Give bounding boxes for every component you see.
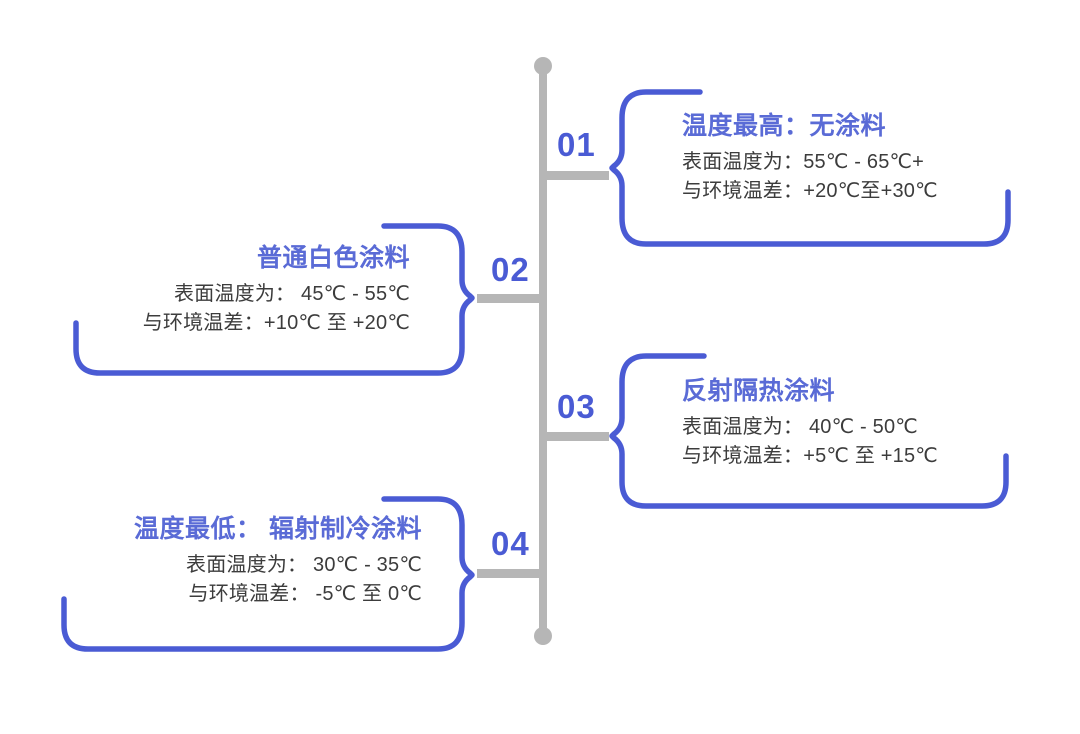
- timeline-spine: [539, 64, 547, 636]
- callout-title-04: 温度最低： 辐射制冷涂料: [134, 515, 422, 544]
- timeline-tick-04: [477, 569, 543, 578]
- callout-line-01-1: 表面温度为：55℃ - 65℃+: [682, 148, 938, 177]
- timeline-tick-03: [543, 432, 609, 441]
- callout-card-02[interactable]: 普通白色涂料 表面温度为： 45℃ - 55℃ 与环境温差：+10℃ 至 +20…: [62, 222, 472, 377]
- callout-card-01[interactable]: 温度最高：无涂料 表面温度为：55℃ - 65℃+ 与环境温差：+20℃至+30…: [612, 88, 1022, 248]
- callout-text-01: 温度最高：无涂料 表面温度为：55℃ - 65℃+ 与环境温差：+20℃至+30…: [682, 112, 938, 206]
- callout-line-02-2: 与环境温差：+10℃ 至 +20℃: [143, 309, 410, 338]
- infographic-canvas: 01 02 03 04 温度最高：无涂料 表面温度为：55℃ - 65℃+ 与环…: [0, 0, 1080, 734]
- callout-card-03[interactable]: 反射隔热涂料 表面温度为： 40℃ - 50℃ 与环境温差：+5℃ 至 +15℃: [612, 352, 1022, 510]
- callout-text-04: 温度最低： 辐射制冷涂料 表面温度为： 30℃ - 35℃ 与环境温差： -5℃…: [134, 515, 422, 609]
- timeline-tick-01: [543, 171, 609, 180]
- callout-line-03-1: 表面温度为： 40℃ - 50℃: [682, 413, 938, 442]
- step-number-03: 03: [557, 390, 596, 423]
- callout-title-02: 普通白色涂料: [143, 244, 410, 273]
- callout-line-03-2: 与环境温差：+5℃ 至 +15℃: [682, 442, 938, 471]
- timeline-tick-02: [477, 294, 543, 303]
- callout-line-04-2: 与环境温差： -5℃ 至 0℃: [134, 580, 422, 609]
- callout-card-04[interactable]: 温度最低： 辐射制冷涂料 表面温度为： 30℃ - 35℃ 与环境温差： -5℃…: [40, 495, 472, 653]
- callout-line-04-1: 表面温度为： 30℃ - 35℃: [134, 551, 422, 580]
- step-number-01: 01: [557, 128, 596, 161]
- callout-line-01-2: 与环境温差：+20℃至+30℃: [682, 177, 938, 206]
- step-number-04: 04: [491, 527, 530, 560]
- callout-text-03: 反射隔热涂料 表面温度为： 40℃ - 50℃ 与环境温差：+5℃ 至 +15℃: [682, 377, 938, 471]
- callout-text-02: 普通白色涂料 表面温度为： 45℃ - 55℃ 与环境温差：+10℃ 至 +20…: [143, 244, 410, 338]
- timeline-spine-bottom-dot: [534, 627, 552, 645]
- callout-title-03: 反射隔热涂料: [682, 377, 938, 406]
- callout-title-01: 温度最高：无涂料: [682, 112, 938, 141]
- step-number-02: 02: [491, 253, 530, 286]
- callout-line-02-1: 表面温度为： 45℃ - 55℃: [143, 280, 410, 309]
